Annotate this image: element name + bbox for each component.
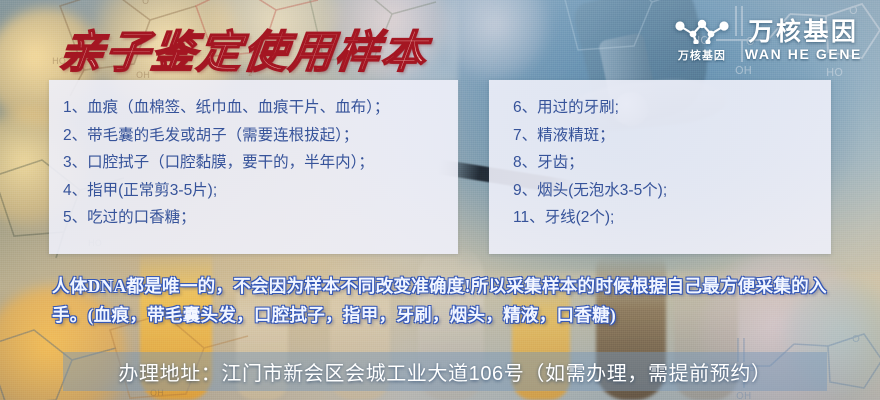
logo-brand-cn: 万核基因 [748,19,858,45]
logo-brand-en: WAN HE GENE [745,47,862,62]
sample-list-panel-left: 1、血痕（血棉签、纸巾血、血痕干片、血布）； 2、带毛囊的毛发或胡子（需要连根拔… [49,80,458,254]
molecule-icon [673,18,731,44]
list-item: 7、精液精斑； [513,122,831,150]
poster: HO OH O NH 2 HO [0,0,880,400]
list-item: 8、牙齿； [513,149,831,177]
list-item: 2、带毛囊的毛发或胡子（需要连根拔起）； [63,122,458,150]
logo-mark: 万核基因 [673,18,731,63]
list-item: 9、烟头(无泡水3-5个); [513,177,831,205]
list-item: 3、口腔拭子（口腔黏膜，要干的，半年内）； [63,149,458,177]
list-item: 6、用过的牙刷; [513,94,831,122]
sample-list-right: 6、用过的牙刷; 7、精液精斑； 8、牙齿； 9、烟头(无泡水3-5个); 11… [489,80,831,232]
list-item: 5、吃过的口香糖； [63,204,458,232]
sample-list-left: 1、血痕（血棉签、纸巾血、血痕干片、血布）； 2、带毛囊的毛发或胡子（需要连根拔… [49,80,458,232]
list-item: 1、血痕（血棉签、纸巾血、血痕干片、血布）； [63,94,458,122]
list-item: 4、指甲(正常剪3-5片); [63,177,458,205]
logo-wordmark: 万核基因 WAN HE GENE [745,19,862,62]
brand-logo: 万核基因 万核基因 WAN HE GENE [673,18,862,63]
address-text: 办理地址：江门市新会区会城工业大道106号（如需办理，需提前预约） [63,352,827,391]
logo-mark-label: 万核基因 [678,47,726,63]
note-paragraph: 人体DNA都是唯一的，不会因为样本不同改变准确度!所以采集样本的时候根据自己最方… [52,272,842,330]
sample-list-panel-right: 6、用过的牙刷; 7、精液精斑； 8、牙齿； 9、烟头(无泡水3-5个); 11… [489,80,831,254]
page-title: 亲子鉴定使用样本 [56,16,432,80]
list-item: 11、牙线(2个); [513,204,831,232]
